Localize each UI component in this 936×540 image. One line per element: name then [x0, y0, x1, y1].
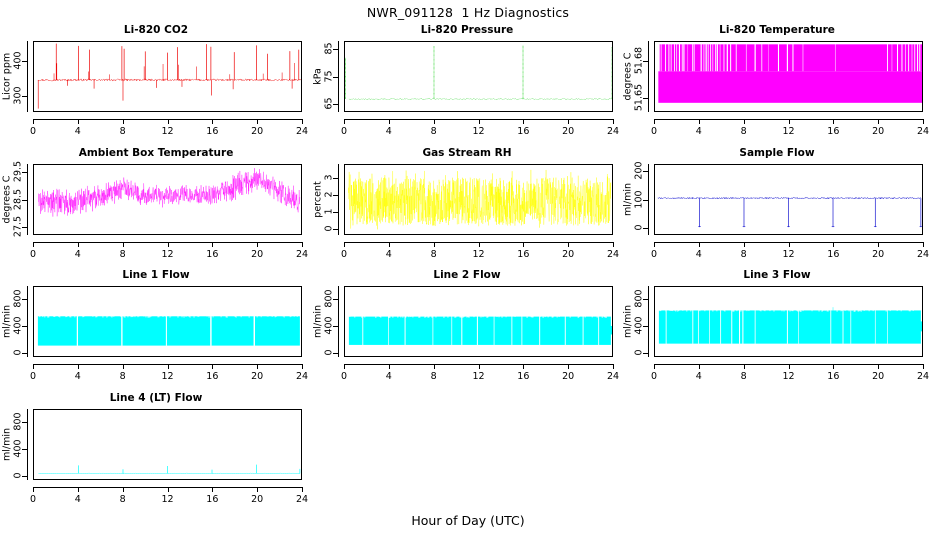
x-tick-label-line-3-flow-1: 4: [684, 371, 714, 382]
x-tick-label-li820-temperature-6: 24: [908, 126, 936, 137]
x-tick-li820-pressure-2: [434, 119, 435, 124]
plot-area-li820-pressure: [344, 41, 613, 112]
x-tick-gas-stream-rh-1: [389, 242, 390, 247]
y-axis-line-sample-flow: [648, 164, 649, 235]
x-tick-label-ambient-box-temperature-3: 12: [153, 249, 183, 260]
y-tick-label-li820-pressure-2: 85: [324, 32, 335, 66]
y-axis-line-li820-temperature: [648, 41, 649, 112]
y-axis-label-li820-temperature: degrees C: [623, 41, 634, 111]
x-tick-gas-stream-rh-0: [344, 242, 345, 247]
x-tick-label-li820-temperature-2: 8: [729, 126, 759, 137]
y-axis-line-line-3-flow: [648, 286, 649, 357]
x-tick-label-li820-temperature-3: 12: [774, 126, 804, 137]
x-tick-label-li820-co2-1: 4: [63, 126, 93, 137]
y-axis-line-line-1-flow: [27, 286, 28, 357]
y-tick-label-line-3-flow-2: 800: [634, 282, 645, 316]
x-tick-label-line-4-lt-flow-4: 16: [197, 494, 227, 505]
plot-area-line-1-flow: [33, 286, 302, 357]
x-tick-line-1-flow-1: [78, 364, 79, 369]
y-tick-label-line-4-lt-flow-2: 800: [13, 405, 24, 439]
y-axis-line-line-4-lt-flow: [27, 409, 28, 480]
x-tick-sample-flow-4: [833, 242, 834, 247]
x-tick-li820-pressure-6: [613, 119, 614, 124]
y-tick-label-li820-temperature-1: 51.68: [634, 44, 645, 78]
x-tick-label-line-2-flow-4: 16: [508, 371, 538, 382]
x-tick-label-sample-flow-5: 20: [863, 249, 893, 260]
x-tick-label-li820-pressure-1: 4: [374, 126, 404, 137]
x-tick-label-sample-flow-6: 24: [908, 249, 936, 260]
x-tick-line-1-flow-3: [168, 364, 169, 369]
x-tick-label-li820-pressure-2: 8: [419, 126, 449, 137]
x-tick-li820-temperature-5: [878, 119, 879, 124]
x-tick-label-line-3-flow-0: 0: [639, 371, 669, 382]
x-tick-label-li820-temperature-4: 16: [818, 126, 848, 137]
x-tick-label-line-3-flow-3: 12: [774, 371, 804, 382]
y-axis-line-ambient-box-temperature: [27, 164, 28, 235]
panel-line-4-lt-flow: Line 4 (LT) Flow0400800ml/min04812162024: [0, 392, 312, 515]
panel-title-ambient-box-temperature: Ambient Box Temperature: [0, 147, 312, 159]
x-tick-line-3-flow-0: [654, 364, 655, 369]
x-tick-li820-pressure-3: [479, 119, 480, 124]
x-tick-label-line-4-lt-flow-1: 4: [63, 494, 93, 505]
x-tick-gas-stream-rh-2: [434, 242, 435, 247]
x-tick-label-line-2-flow-3: 12: [464, 371, 494, 382]
panel-gas-stream-rh: Gas Stream RH0123percent04812162024: [311, 147, 623, 270]
x-tick-li820-pressure-5: [568, 119, 569, 124]
x-tick-line-4-lt-flow-5: [257, 487, 258, 492]
y-tick-label-li820-temperature-0: 51.65: [634, 80, 645, 114]
x-tick-label-gas-stream-rh-0: 0: [329, 249, 359, 260]
x-tick-line-3-flow-5: [878, 364, 879, 369]
x-tick-li820-co2-0: [33, 119, 34, 124]
x-tick-label-line-4-lt-flow-6: 24: [287, 494, 317, 505]
x-tick-label-li820-co2-2: 8: [108, 126, 138, 137]
y-tick-label-gas-stream-rh-3: 3: [324, 160, 335, 194]
panel-title-li820-pressure: Li-820 Pressure: [311, 24, 623, 36]
x-tick-line-2-flow-0: [344, 364, 345, 369]
x-tick-li820-pressure-1: [389, 119, 390, 124]
panel-title-gas-stream-rh: Gas Stream RH: [311, 147, 623, 159]
y-axis-label-line-2-flow: ml/min: [313, 286, 324, 356]
x-tick-label-sample-flow-1: 4: [684, 249, 714, 260]
panel-ambient-box-temperature: Ambient Box Temperature27.528.529.5degre…: [0, 147, 312, 270]
x-tick-label-line-2-flow-5: 20: [553, 371, 583, 382]
panel-li820-co2: Li-820 CO2300400Licor ppm04812162024: [0, 24, 312, 147]
x-tick-label-line-4-lt-flow-0: 0: [18, 494, 48, 505]
x-tick-label-gas-stream-rh-2: 8: [419, 249, 449, 260]
x-tick-label-ambient-box-temperature-5: 20: [242, 249, 272, 260]
x-tick-label-line-1-flow-1: 4: [63, 371, 93, 382]
plot-area-gas-stream-rh: [344, 164, 613, 235]
panel-title-li820-co2: Li-820 CO2: [0, 24, 312, 36]
x-tick-label-line-4-lt-flow-3: 12: [153, 494, 183, 505]
x-tick-gas-stream-rh-3: [479, 242, 480, 247]
x-tick-label-line-2-flow-0: 0: [329, 371, 359, 382]
plot-series-line-3-flow: [655, 287, 922, 356]
x-tick-line-1-flow-2: [123, 364, 124, 369]
y-axis-line-gas-stream-rh: [338, 164, 339, 235]
x-tick-line-2-flow-3: [479, 364, 480, 369]
figure-title: NWR_091128 1 Hz Diagnostics: [0, 5, 936, 20]
x-tick-label-gas-stream-rh-4: 16: [508, 249, 538, 260]
x-tick-label-sample-flow-2: 8: [729, 249, 759, 260]
panel-sample-flow: Sample Flow0100200ml/min04812162024: [621, 147, 933, 270]
x-tick-li820-temperature-3: [789, 119, 790, 124]
diagnostics-figure: NWR_091128 1 Hz Diagnostics Li-820 CO230…: [0, 0, 936, 540]
y-tick-label-sample-flow-2: 200: [634, 154, 645, 188]
x-tick-label-li820-temperature-5: 20: [863, 126, 893, 137]
x-tick-label-ambient-box-temperature-1: 4: [63, 249, 93, 260]
panel-line-1-flow: Line 1 Flow0400800ml/min04812162024: [0, 269, 312, 392]
panel-title-line-4-lt-flow: Line 4 (LT) Flow: [0, 392, 312, 404]
x-tick-li820-pressure-0: [344, 119, 345, 124]
x-tick-ambient-box-temperature-2: [123, 242, 124, 247]
x-tick-label-ambient-box-temperature-4: 16: [197, 249, 227, 260]
x-tick-li820-temperature-2: [744, 119, 745, 124]
y-axis-label-ambient-box-temperature: degrees C: [2, 164, 13, 234]
plot-area-li820-temperature: [654, 41, 923, 112]
panel-title-li820-temperature: Li-820 Temperature: [621, 24, 933, 36]
x-tick-li820-co2-2: [123, 119, 124, 124]
x-tick-ambient-box-temperature-5: [257, 242, 258, 247]
y-axis-label-gas-stream-rh: percent: [313, 164, 324, 234]
x-tick-li820-temperature-1: [699, 119, 700, 124]
x-tick-ambient-box-temperature-1: [78, 242, 79, 247]
x-tick-line-1-flow-6: [302, 364, 303, 369]
x-tick-ambient-box-temperature-4: [212, 242, 213, 247]
x-tick-line-4-lt-flow-4: [212, 487, 213, 492]
x-tick-sample-flow-3: [789, 242, 790, 247]
x-tick-label-li820-pressure-0: 0: [329, 126, 359, 137]
x-tick-label-li820-co2-5: 20: [242, 126, 272, 137]
x-tick-label-gas-stream-rh-3: 12: [464, 249, 494, 260]
x-tick-gas-stream-rh-5: [568, 242, 569, 247]
x-tick-line-4-lt-flow-6: [302, 487, 303, 492]
x-tick-label-line-1-flow-0: 0: [18, 371, 48, 382]
plot-series-ambient-box-temperature: [34, 165, 301, 234]
x-tick-label-li820-temperature-1: 4: [684, 126, 714, 137]
x-tick-label-li820-pressure-5: 20: [553, 126, 583, 137]
x-tick-label-ambient-box-temperature-0: 0: [18, 249, 48, 260]
x-tick-line-3-flow-2: [744, 364, 745, 369]
plot-series-sample-flow: [655, 165, 922, 234]
x-tick-label-line-4-lt-flow-2: 8: [108, 494, 138, 505]
x-tick-label-ambient-box-temperature-2: 8: [108, 249, 138, 260]
x-tick-label-li820-pressure-4: 16: [508, 126, 538, 137]
plot-series-li820-pressure: [345, 42, 612, 111]
y-axis-label-li820-pressure: kPa: [313, 41, 324, 111]
y-axis-label-sample-flow: ml/min: [623, 164, 634, 234]
x-tick-li820-temperature-6: [923, 119, 924, 124]
x-tick-sample-flow-5: [878, 242, 879, 247]
x-tick-label-sample-flow-3: 12: [774, 249, 804, 260]
plot-series-gas-stream-rh: [345, 165, 612, 234]
x-tick-label-line-1-flow-5: 20: [242, 371, 272, 382]
panel-line-2-flow: Line 2 Flow0400800ml/min04812162024: [311, 269, 623, 392]
x-tick-line-2-flow-5: [568, 364, 569, 369]
y-axis-label-line-4-lt-flow: ml/min: [2, 409, 13, 479]
y-axis-label-li820-co2: Licor ppm: [2, 41, 13, 111]
y-tick-label-ambient-box-temperature-2: 29.5: [13, 155, 24, 189]
x-tick-sample-flow-0: [654, 242, 655, 247]
y-tick-label-line-2-flow-2: 800: [324, 282, 335, 316]
x-tick-line-2-flow-4: [523, 364, 524, 369]
x-tick-line-4-lt-flow-3: [168, 487, 169, 492]
plot-series-line-1-flow: [34, 287, 301, 356]
x-tick-label-line-1-flow-3: 12: [153, 371, 183, 382]
x-tick-gas-stream-rh-6: [613, 242, 614, 247]
panel-title-sample-flow: Sample Flow: [621, 147, 933, 159]
x-tick-label-gas-stream-rh-1: 4: [374, 249, 404, 260]
x-tick-label-line-1-flow-4: 16: [197, 371, 227, 382]
plot-area-sample-flow: [654, 164, 923, 235]
x-tick-sample-flow-6: [923, 242, 924, 247]
x-tick-ambient-box-temperature-0: [33, 242, 34, 247]
y-axis-line-line-2-flow: [338, 286, 339, 357]
x-tick-label-li820-temperature-0: 0: [639, 126, 669, 137]
y-axis-line-li820-co2: [27, 41, 28, 112]
x-tick-label-line-4-lt-flow-5: 20: [242, 494, 272, 505]
x-tick-li820-co2-4: [212, 119, 213, 124]
x-tick-label-gas-stream-rh-5: 20: [553, 249, 583, 260]
x-tick-li820-temperature-4: [833, 119, 834, 124]
x-tick-sample-flow-1: [699, 242, 700, 247]
x-tick-line-3-flow-4: [833, 364, 834, 369]
y-axis-label-line-1-flow: ml/min: [2, 286, 13, 356]
x-tick-li820-co2-5: [257, 119, 258, 124]
x-tick-label-line-2-flow-2: 8: [419, 371, 449, 382]
panel-title-line-3-flow: Line 3 Flow: [621, 269, 933, 281]
y-tick-label-line-1-flow-2: 800: [13, 282, 24, 316]
x-tick-label-li820-co2-0: 0: [18, 126, 48, 137]
x-tick-label-line-3-flow-5: 20: [863, 371, 893, 382]
panel-li820-temperature: Li-820 Temperature51.6551.68degrees C048…: [621, 24, 933, 147]
x-tick-li820-co2-6: [302, 119, 303, 124]
x-tick-li820-temperature-0: [654, 119, 655, 124]
x-tick-line-1-flow-4: [212, 364, 213, 369]
x-tick-gas-stream-rh-4: [523, 242, 524, 247]
x-tick-label-li820-pressure-3: 12: [464, 126, 494, 137]
x-tick-line-3-flow-6: [923, 364, 924, 369]
plot-series-li820-temperature: [655, 42, 922, 111]
plot-area-line-4-lt-flow: [33, 409, 302, 480]
x-tick-line-4-lt-flow-0: [33, 487, 34, 492]
plot-series-line-2-flow: [345, 287, 612, 356]
x-tick-label-line-3-flow-6: 24: [908, 371, 936, 382]
x-tick-label-line-2-flow-1: 4: [374, 371, 404, 382]
plot-area-li820-co2: [33, 41, 302, 112]
y-tick-label-li820-co2-1: 400: [13, 43, 24, 77]
plot-area-line-3-flow: [654, 286, 923, 357]
panel-title-line-1-flow: Line 1 Flow: [0, 269, 312, 281]
x-tick-ambient-box-temperature-6: [302, 242, 303, 247]
plot-area-line-2-flow: [344, 286, 613, 357]
x-tick-li820-co2-3: [168, 119, 169, 124]
y-axis-label-line-3-flow: ml/min: [623, 286, 634, 356]
panel-title-line-2-flow: Line 2 Flow: [311, 269, 623, 281]
x-tick-line-3-flow-1: [699, 364, 700, 369]
panel-li820-pressure: Li-820 Pressure657585kPa04812162024: [311, 24, 623, 147]
x-tick-label-sample-flow-4: 16: [818, 249, 848, 260]
x-tick-label-li820-co2-4: 16: [197, 126, 227, 137]
plot-series-line-4-lt-flow: [34, 410, 301, 479]
x-tick-li820-co2-1: [78, 119, 79, 124]
x-tick-label-line-3-flow-4: 16: [818, 371, 848, 382]
figure-x-axis-label: Hour of Day (UTC): [0, 513, 936, 528]
x-tick-label-line-3-flow-2: 8: [729, 371, 759, 382]
x-tick-line-2-flow-2: [434, 364, 435, 369]
x-tick-ambient-box-temperature-3: [168, 242, 169, 247]
x-tick-label-line-1-flow-2: 8: [108, 371, 138, 382]
x-tick-line-1-flow-0: [33, 364, 34, 369]
x-tick-line-4-lt-flow-2: [123, 487, 124, 492]
x-tick-label-sample-flow-0: 0: [639, 249, 669, 260]
y-tick-label-li820-co2-0: 300: [13, 79, 24, 113]
x-tick-line-2-flow-1: [389, 364, 390, 369]
x-tick-sample-flow-2: [744, 242, 745, 247]
plot-area-ambient-box-temperature: [33, 164, 302, 235]
x-tick-line-4-lt-flow-1: [78, 487, 79, 492]
x-tick-line-3-flow-3: [789, 364, 790, 369]
x-tick-label-li820-co2-3: 12: [153, 126, 183, 137]
x-tick-li820-pressure-4: [523, 119, 524, 124]
plot-series-li820-co2: [34, 42, 301, 111]
y-axis-line-li820-pressure: [338, 41, 339, 112]
panel-line-3-flow: Line 3 Flow0400800ml/min04812162024: [621, 269, 933, 392]
x-tick-line-2-flow-6: [613, 364, 614, 369]
x-tick-line-1-flow-5: [257, 364, 258, 369]
